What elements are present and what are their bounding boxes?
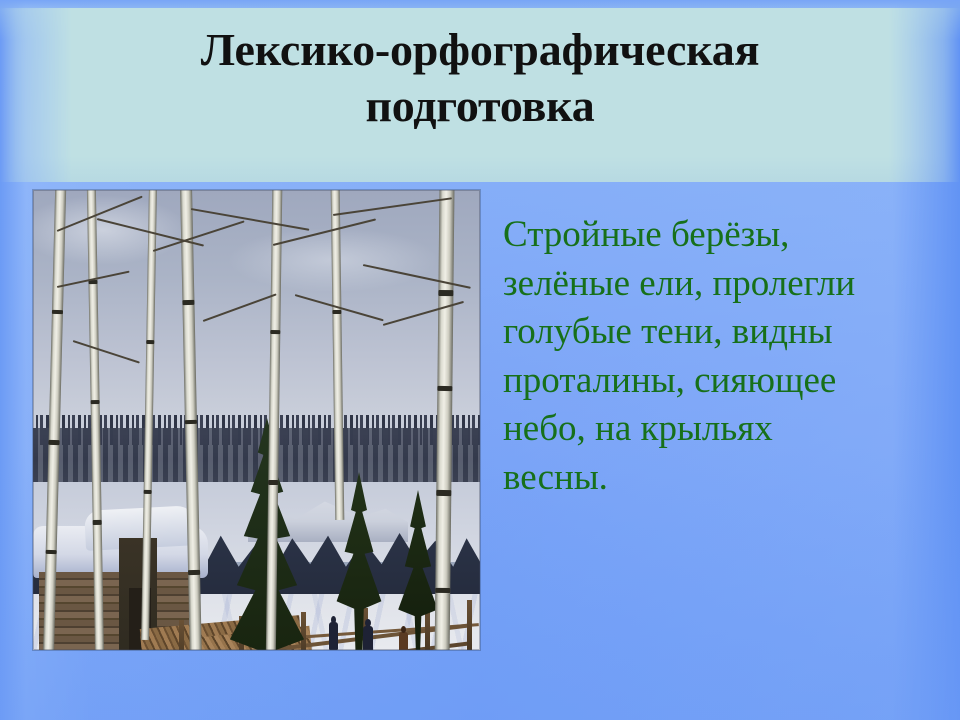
body-text-line: проталины, сияющее [503, 357, 933, 406]
painting-winter-village [33, 190, 480, 650]
body-text-line: небо, на крыльях [503, 405, 933, 454]
body-text-line: зелёные ели, пролегли [503, 260, 933, 309]
body-text-line: весны. [503, 454, 933, 503]
body-text-line: голубые тени, видны [503, 308, 933, 357]
painting-frame [33, 190, 480, 650]
page-title: Лексико-орфографическая подготовка [60, 22, 900, 134]
body-text-block: Стройные берёзы, зелёные ели, пролегли г… [503, 211, 933, 502]
body-text-line: Стройные берёзы, [503, 211, 933, 260]
slide: Лексико-орфографическая подготовка [0, 0, 960, 720]
